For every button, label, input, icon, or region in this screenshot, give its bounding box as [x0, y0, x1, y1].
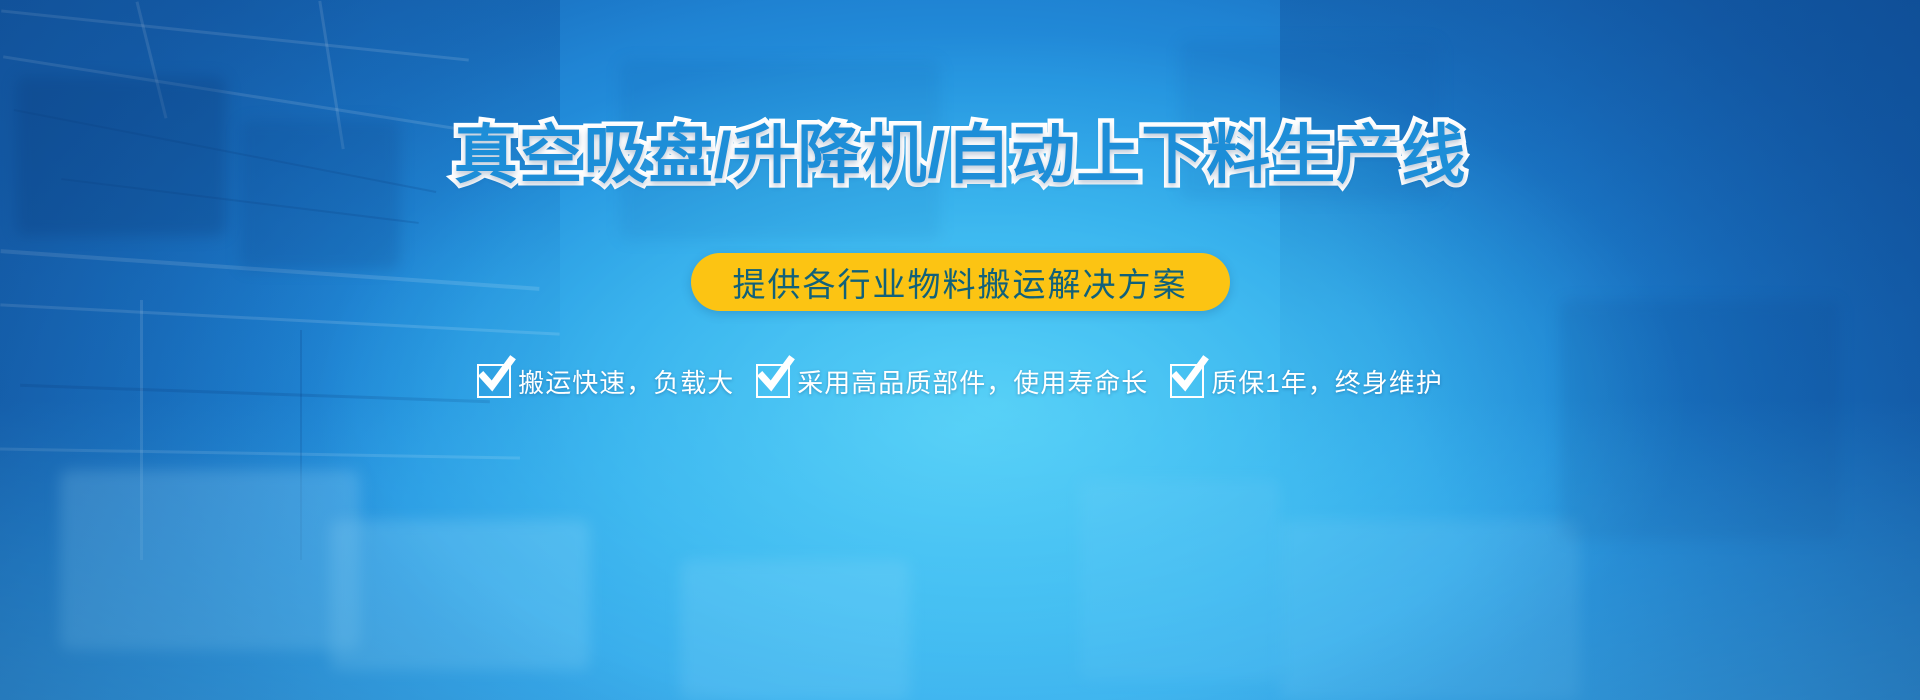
feature-item: 采用高品质部件，使用寿命长 — [756, 363, 1148, 400]
checkbox-checked-icon — [756, 364, 790, 398]
feature-item: 搬运快速，负载大 — [477, 363, 734, 400]
tagline-text: 提供各行业物料搬运解决方案 — [733, 258, 1188, 306]
feature-list: 搬运快速，负载大 采用高品质部件，使用寿命长 质保1年，终身维护 — [477, 363, 1443, 400]
banner-content: 真空吸盘/升降机/自动上下料生产线 提供各行业物料搬运解决方案 搬运快速，负载大 — [0, 0, 1920, 700]
feature-label: 质保1年，终身维护 — [1211, 363, 1442, 400]
tagline-pill: 提供各行业物料搬运解决方案 — [691, 253, 1230, 311]
checkbox-checked-icon — [477, 364, 511, 398]
banner-headline: 真空吸盘/升降机/自动上下料生产线 — [454, 122, 1467, 190]
feature-label: 采用高品质部件，使用寿命长 — [797, 363, 1148, 400]
checkbox-checked-icon — [1170, 364, 1204, 398]
feature-item: 质保1年，终身维护 — [1170, 363, 1442, 400]
hero-banner: 真空吸盘/升降机/自动上下料生产线 提供各行业物料搬运解决方案 搬运快速，负载大 — [0, 0, 1920, 700]
feature-label: 搬运快速，负载大 — [518, 363, 734, 400]
